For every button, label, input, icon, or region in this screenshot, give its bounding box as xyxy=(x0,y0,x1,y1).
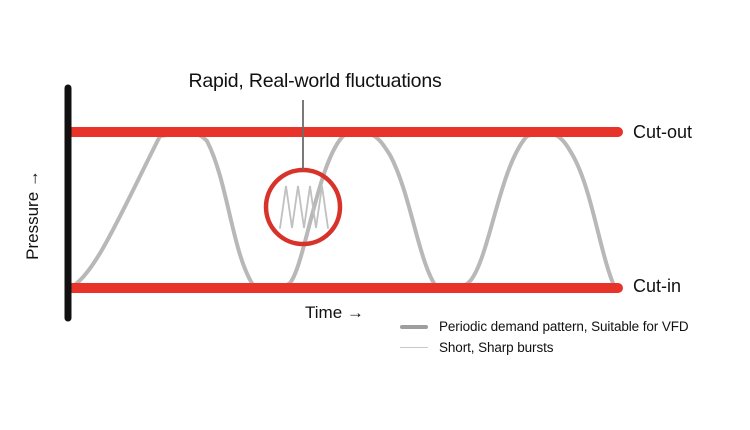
series-short-sharp-bursts xyxy=(280,186,328,228)
chart-legend: Periodic demand pattern, Suitable for VF… xyxy=(399,316,739,358)
cut-in-label: Cut-in xyxy=(633,276,681,297)
legend-item: Short, Sharp bursts xyxy=(399,337,739,358)
callout-title: Rapid, Real-world fluctuations xyxy=(160,70,470,93)
series-periodic-demand-curve xyxy=(70,132,615,290)
legend-label: Periodic demand pattern, Suitable for VF… xyxy=(439,319,689,334)
chart-canvas xyxy=(0,0,750,430)
x-axis-label: Time → xyxy=(305,303,364,323)
pressure-cycle-chart: Rapid, Real-world fluctuations Pressure … xyxy=(0,0,750,430)
fluctuation-callout-circle xyxy=(266,170,340,244)
legend-marker-short-bursts-icon xyxy=(399,347,429,349)
legend-label: Short, Sharp bursts xyxy=(439,340,553,355)
cut-out-label: Cut-out xyxy=(633,122,692,143)
legend-item: Periodic demand pattern, Suitable for VF… xyxy=(399,316,739,337)
legend-marker-periodic-demand-icon xyxy=(399,325,429,329)
y-axis-label: Pressure → xyxy=(23,145,43,285)
